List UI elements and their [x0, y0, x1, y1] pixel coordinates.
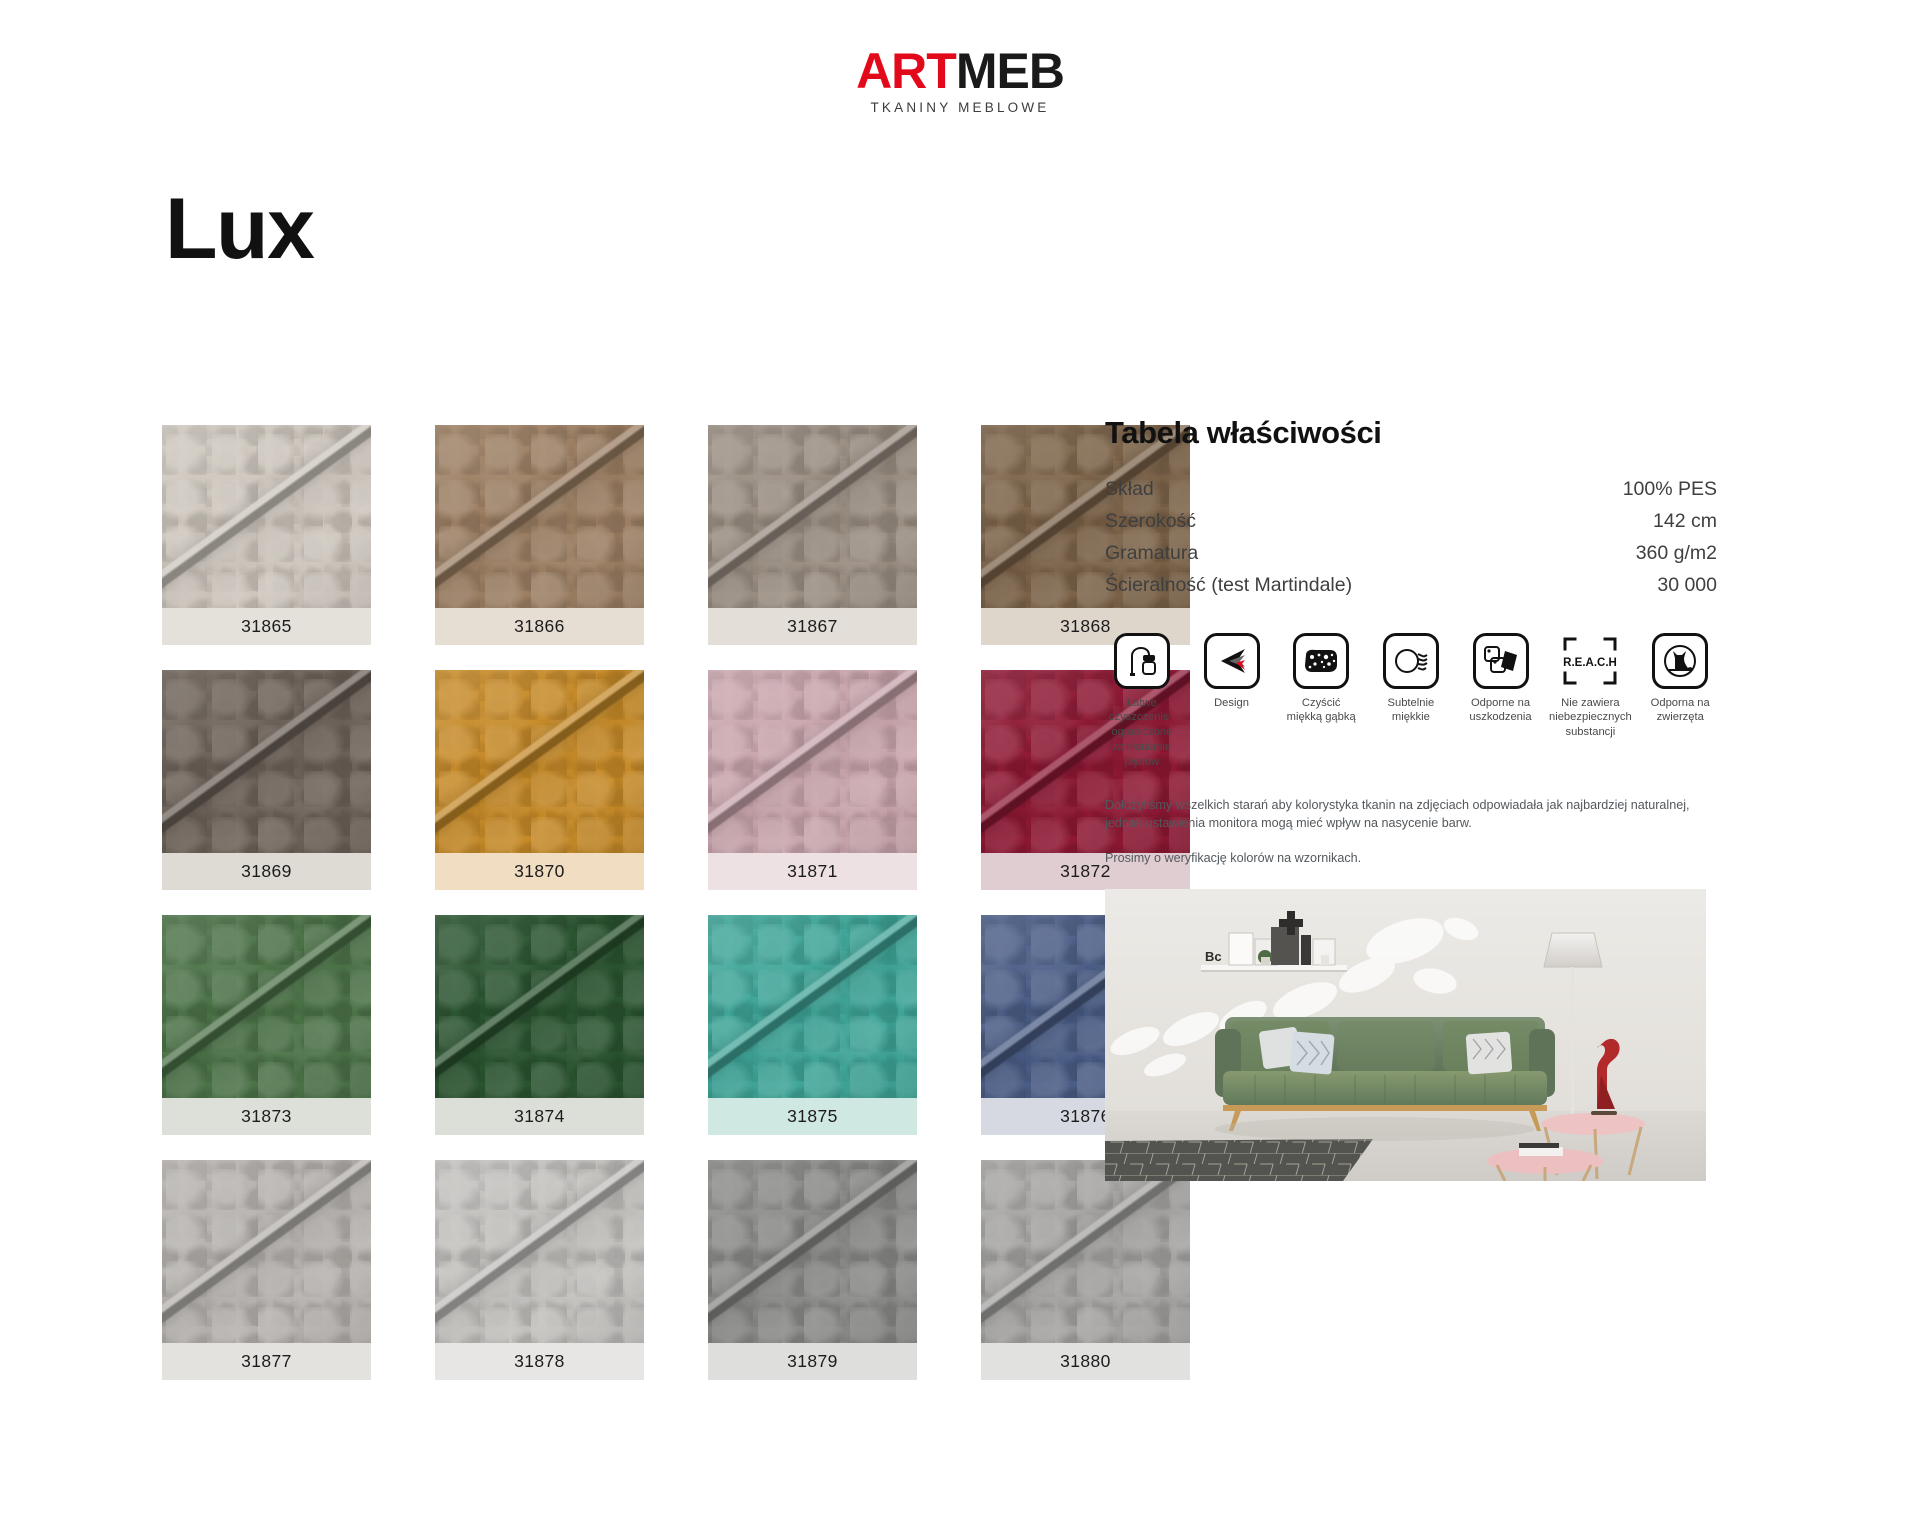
property-name: Gramatura	[1105, 541, 1548, 573]
property-value: 100% PES	[1548, 477, 1717, 509]
swatch-row: 31869318703187131872	[162, 670, 1062, 890]
feature-item: Czyścić miękką gąbką	[1284, 633, 1358, 770]
fabric-swatch-grid: 3186531866318673186831869318703187131872…	[162, 425, 1062, 1405]
properties-title: Tabela właściwości	[1105, 415, 1717, 451]
swatch-texture	[435, 1160, 644, 1343]
fabric-swatch[interactable]: 31867	[708, 425, 917, 645]
reach-certificate-icon: R.E.A.C.H	[1562, 633, 1618, 689]
fabric-swatch[interactable]: 31875	[708, 915, 917, 1135]
property-row: Ścieralność (test Martindale)30 000	[1105, 573, 1717, 605]
vacuum-cleaner-icon	[1114, 633, 1170, 689]
feature-item: Odporne na uszkodzenia	[1464, 633, 1538, 770]
feature-caption: Design	[1214, 696, 1249, 711]
color-disclaimer: Dołożyliśmy wszelkich starań aby kolorys…	[1105, 796, 1705, 868]
shelf-letters-text: Bc	[1205, 949, 1222, 964]
fabric-swatch[interactable]: 31869	[162, 670, 371, 890]
swatch-code-label: 31879	[708, 1343, 917, 1380]
property-row: Skład100% PES	[1105, 477, 1717, 509]
pet-friendly-cat-icon	[1652, 633, 1708, 689]
swatch-code-label: 31871	[708, 853, 917, 890]
swatch-texture	[708, 915, 917, 1098]
feature-icons-row: Łatwe czyszczenie i ograniczone wchłania…	[1105, 633, 1717, 770]
svg-text:R.E.A.C.H: R.E.A.C.H	[1564, 657, 1618, 669]
property-value: 30 000	[1548, 573, 1717, 605]
feature-caption: Odporne na uszkodzenia	[1464, 696, 1538, 726]
swatch-texture	[435, 670, 644, 853]
swatch-texture	[162, 425, 371, 608]
swatch-texture	[435, 425, 644, 608]
fabric-swatch[interactable]: 31879	[708, 1160, 917, 1380]
swatch-code-label: 31874	[435, 1098, 644, 1135]
feature-item: Design	[1195, 633, 1269, 770]
swatch-code-label: 31880	[981, 1343, 1190, 1380]
swatch-code-label: 31867	[708, 608, 917, 645]
feature-caption: Czyścić miękką gąbką	[1284, 696, 1358, 726]
soft-touch-icon	[1383, 633, 1439, 689]
swatch-code-label: 31878	[435, 1343, 644, 1380]
fabric-swatch[interactable]: 31866	[435, 425, 644, 645]
logo-meb-text: MEB	[956, 43, 1064, 99]
swatch-texture	[981, 1160, 1190, 1343]
property-row: Szerokość142 cm	[1105, 509, 1717, 541]
interior-scene-illustration: Bc	[1105, 889, 1706, 1181]
property-value: 142 cm	[1548, 509, 1717, 541]
feature-item: R.E.A.C.HNie zawiera niebezpiecznych sub…	[1553, 633, 1627, 770]
feature-caption: Łatwe czyszczenie i ograniczone wchłania…	[1105, 696, 1179, 770]
disclaimer-paragraph-1: Dołożyliśmy wszelkich starań aby kolorys…	[1105, 796, 1705, 833]
swatch-texture	[162, 670, 371, 853]
fabric-swatch[interactable]: 31871	[708, 670, 917, 890]
feature-caption: Nie zawiera niebezpiecznych substancji	[1549, 696, 1632, 740]
property-name: Ścieralność (test Martindale)	[1105, 573, 1548, 605]
swatch-code-label: 31877	[162, 1343, 371, 1380]
swatch-texture	[162, 915, 371, 1098]
sponge-icon	[1293, 633, 1349, 689]
fabric-swatch[interactable]: 31874	[435, 915, 644, 1135]
fabric-swatch[interactable]: 31878	[435, 1160, 644, 1380]
disclaimer-paragraph-2: Prosimy o weryfikację kolorów na wzornik…	[1105, 849, 1705, 867]
swatch-code-label: 31865	[162, 608, 371, 645]
swatch-row: 31873318743187531876	[162, 915, 1062, 1135]
swatch-texture	[708, 425, 917, 608]
properties-panel: Tabela właściwości Skład100% PESSzerokoś…	[1105, 415, 1717, 1181]
logo-wordmark: ARTMEB TKANINY MEBLOWE	[856, 46, 1064, 115]
swatch-code-label: 31870	[435, 853, 644, 890]
property-row: Gramatura360 g/m2	[1105, 541, 1717, 573]
swatch-row: 31877318783187931880	[162, 1160, 1062, 1380]
design-arrow-icon	[1204, 633, 1260, 689]
fabric-swatch[interactable]: 31877	[162, 1160, 371, 1380]
damage-resistant-icon	[1473, 633, 1529, 689]
logo-tagline: TKANINY MEBLOWE	[856, 101, 1064, 115]
swatch-texture	[162, 1160, 371, 1343]
geometric-rug	[1105, 1139, 1373, 1181]
fabric-swatch[interactable]: 31870	[435, 670, 644, 890]
swatch-code-label: 31873	[162, 1098, 371, 1135]
fabric-swatch[interactable]: 31873	[162, 915, 371, 1135]
properties-table: Skład100% PESSzerokość142 cmGramatura360…	[1105, 477, 1717, 605]
feature-item: Łatwe czyszczenie i ograniczone wchłania…	[1105, 633, 1179, 770]
swatch-code-label: 31869	[162, 853, 371, 890]
property-name: Szerokość	[1105, 509, 1548, 541]
feature-caption: Odporna na zwierzęta	[1643, 696, 1717, 726]
property-value: 360 g/m2	[1548, 541, 1717, 573]
feature-item: Odporna na zwierzęta	[1643, 633, 1717, 770]
collection-title: Lux	[165, 186, 313, 272]
feature-item: Subtelnie miękkie	[1374, 633, 1448, 770]
feature-caption: Subtelnie miękkie	[1374, 696, 1448, 726]
brand-logo: ARTMEB TKANINY MEBLOWE	[0, 46, 1920, 117]
fabric-swatch[interactable]: 31865	[162, 425, 371, 645]
interior-room-photo: Bc	[1105, 889, 1706, 1181]
swatch-texture	[435, 915, 644, 1098]
swatch-code-label: 31875	[708, 1098, 917, 1135]
swatch-texture	[708, 1160, 917, 1343]
swatch-code-label: 31866	[435, 608, 644, 645]
swatch-row: 31865318663186731868	[162, 425, 1062, 645]
fabric-swatch[interactable]: 31880	[981, 1160, 1190, 1380]
property-name: Skład	[1105, 477, 1548, 509]
swatch-texture	[708, 670, 917, 853]
logo-art-text: ART	[856, 43, 956, 99]
